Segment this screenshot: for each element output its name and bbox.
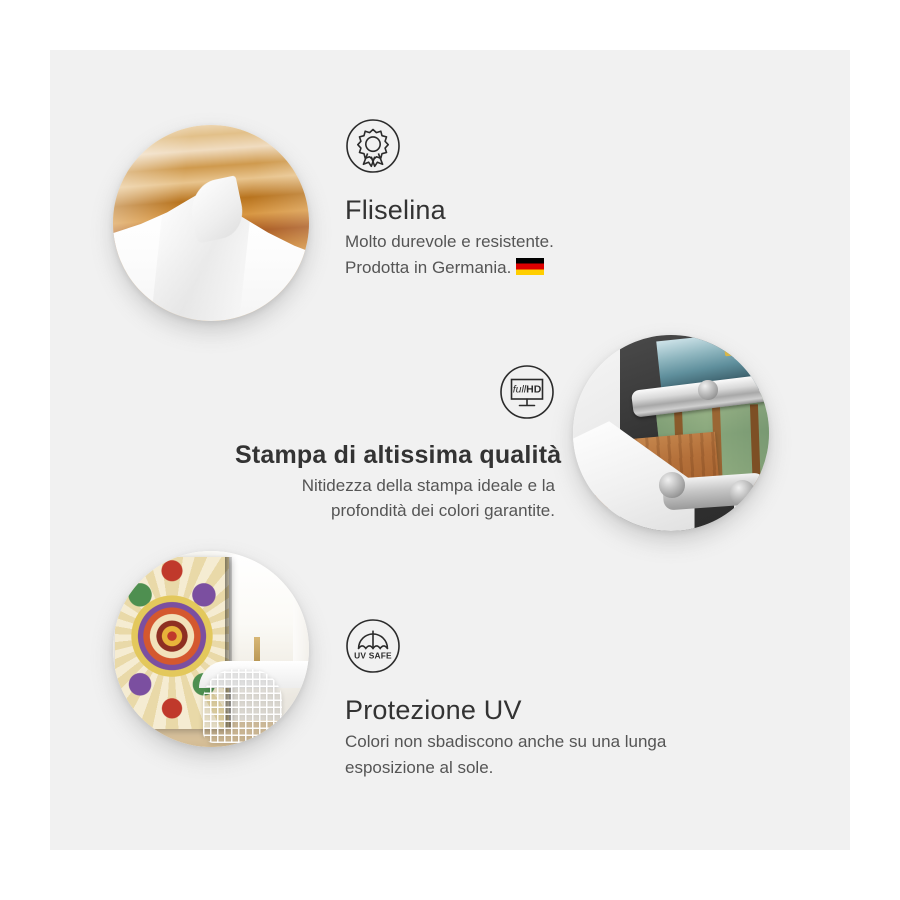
- description-line-1: Molto durevole e resistente.: [345, 229, 554, 255]
- wallpaper-roll-photo: [113, 125, 309, 321]
- germany-flag-icon: [516, 258, 544, 275]
- feature-fliselina: Fliselina Molto durevole e resistente. P…: [345, 118, 554, 280]
- description-line-2: profondità dei colori garantite.: [235, 498, 555, 524]
- content-panel: Fliselina Molto durevole e resistente. P…: [50, 50, 850, 850]
- feature-title: Fliselina: [345, 195, 554, 226]
- feature-title: Stampa di altissima qualità: [235, 441, 555, 470]
- description-line-1: Colori non sbadiscono anche su una lunga: [345, 729, 666, 755]
- svg-text:fullHD: fullHD: [513, 384, 542, 396]
- feature-uv-protection: UV SAFE Protezione UV Colori non sbadisc…: [345, 618, 666, 780]
- printer-knob: [730, 480, 755, 505]
- uv-safe-umbrella-icon: UV SAFE: [345, 618, 666, 679]
- printer-knob: [698, 380, 718, 400]
- feature-description: Colori non sbadiscono anche su una lunga…: [345, 729, 666, 780]
- award-rosette-icon: [345, 118, 554, 179]
- feature-title: Protezione UV: [345, 695, 666, 726]
- printer-knob: [659, 472, 684, 497]
- feature-description: Molto durevole e resistente. Prodotta in…: [345, 229, 554, 280]
- mandala-interior-photo: [113, 551, 309, 747]
- description-line-2: esposizione al sole.: [345, 755, 666, 781]
- large-format-printer-photo: [573, 335, 769, 531]
- fullhd-monitor-icon: fullHD: [235, 364, 555, 425]
- description-line-1: Nitidezza della stampa ideale e la: [235, 473, 555, 499]
- feature-print-quality: fullHD Stampa di altissima qualità Nitid…: [235, 364, 555, 524]
- feature-description: Nitidezza della stampa ideale e la profo…: [235, 473, 555, 524]
- description-line-2: Prodotta in Germania.: [345, 255, 554, 281]
- svg-text:UV SAFE: UV SAFE: [354, 650, 392, 660]
- interior-wire-chair: [203, 669, 281, 743]
- description-line-2-text: Prodotta in Germania.: [345, 258, 511, 277]
